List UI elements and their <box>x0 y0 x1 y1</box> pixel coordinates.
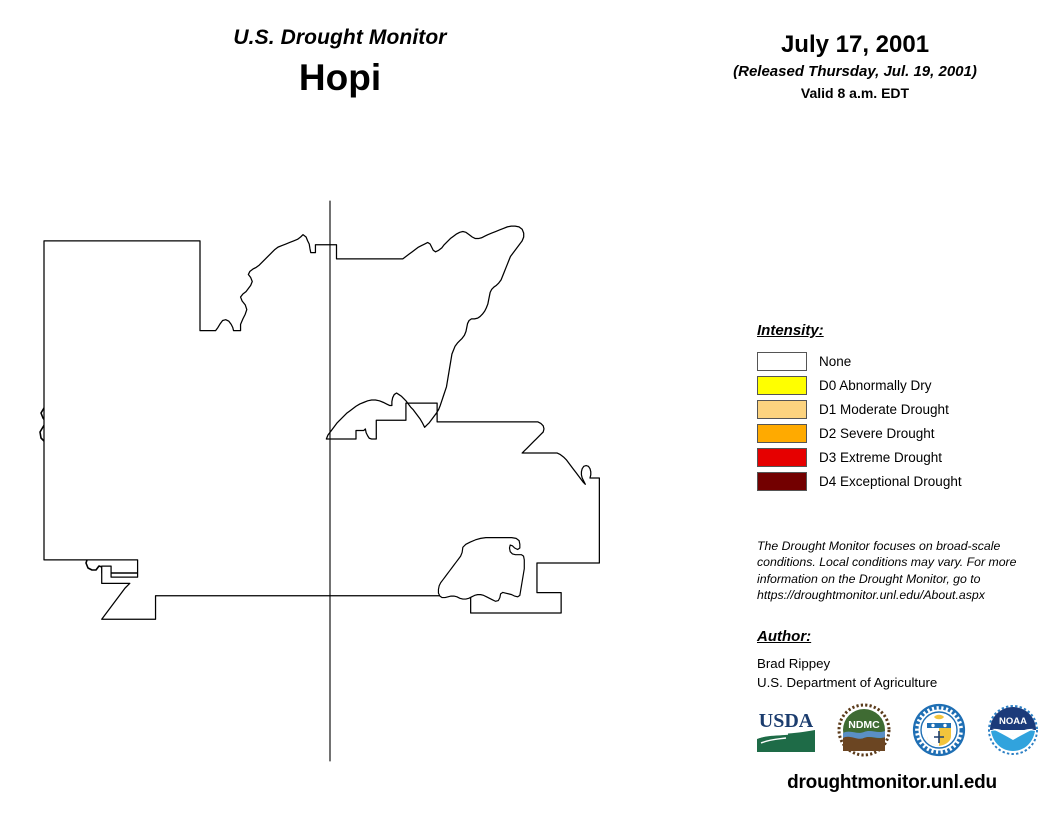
drought-map[interactable] <box>0 120 740 810</box>
legend-label-d1: D1 Moderate Drought <box>819 402 949 417</box>
disclaimer-link[interactable]: https://droughtmonitor.unl.edu/About.asp… <box>757 587 1019 603</box>
legend-item-d0[interactable]: D0 Abnormally Dry <box>757 373 1037 397</box>
disclaimer-line-1: The Drought Monitor focuses on broad-sca… <box>757 538 1019 554</box>
legend-swatch-d1 <box>757 400 807 419</box>
legend-swatch-d0 <box>757 376 807 395</box>
svg-text:NOAA: NOAA <box>999 716 1027 727</box>
legend-item-none[interactable]: None <box>757 349 1037 373</box>
legend-label-none: None <box>819 354 851 369</box>
author-affiliation: U.S. Department of Agriculture <box>757 673 1037 692</box>
legend-label-d3: D3 Extreme Drought <box>819 450 942 465</box>
legend-item-d2[interactable]: D2 Severe Drought <box>757 421 1037 445</box>
logo-row: USDA NDMC <box>755 703 1040 761</box>
legend-panel: Intensity: None D0 Abnormally Dry D1 Mod… <box>757 322 1037 493</box>
svg-text:USDA: USDA <box>759 710 814 732</box>
date-block: July 17, 2001 (Released Thursday, Jul. 1… <box>690 31 1020 101</box>
legend-title: Intensity: <box>757 322 1037 339</box>
legend-swatch-d2 <box>757 424 807 443</box>
legend-item-d1[interactable]: D1 Moderate Drought <box>757 397 1037 421</box>
valid-date: July 17, 2001 <box>690 31 1020 59</box>
noaa-logo[interactable]: NOAA <box>986 703 1040 762</box>
disclaimer-text: The Drought Monitor focuses on broad-sca… <box>757 538 1019 604</box>
valid-time: Valid 8 a.m. EDT <box>690 85 1020 102</box>
legend-label-d2: D2 Severe Drought <box>819 426 935 441</box>
author-name: Brad Rippey <box>757 654 1037 673</box>
legend-swatch-d3 <box>757 448 807 467</box>
disclaimer-line-3: information on the Drought Monitor, go t… <box>757 571 1019 587</box>
legend-item-d4[interactable]: D4 Exceptional Drought <box>757 469 1037 493</box>
site-url[interactable]: droughtmonitor.unl.edu <box>742 772 1042 794</box>
svg-text:NDMC: NDMC <box>849 719 881 731</box>
legend-swatch-d4 <box>757 472 807 491</box>
disclaimer-line-2: conditions. Local conditions may vary. F… <box>757 554 1019 570</box>
map-polygons <box>40 201 599 761</box>
usda-logo[interactable]: USDA <box>755 705 817 760</box>
author-panel: Author: Brad Rippey U.S. Department of A… <box>757 628 1037 693</box>
legend-label-d0: D0 Abnormally Dry <box>819 378 932 393</box>
page-title: U.S. Drought Monitor <box>130 26 550 49</box>
usdc-seal-logo[interactable] <box>912 703 966 762</box>
legend-label-d4: D4 Exceptional Drought <box>819 474 962 489</box>
area-title: Hopi <box>130 57 550 100</box>
release-date: (Released Thursday, Jul. 19, 2001) <box>690 63 1020 81</box>
legend-item-d3[interactable]: D3 Extreme Drought <box>757 445 1037 469</box>
legend-swatch-none <box>757 352 807 371</box>
author-heading: Author: <box>757 628 1037 645</box>
ndmc-logo[interactable]: NDMC <box>837 703 891 762</box>
title-block: U.S. Drought Monitor Hopi <box>130 26 550 100</box>
